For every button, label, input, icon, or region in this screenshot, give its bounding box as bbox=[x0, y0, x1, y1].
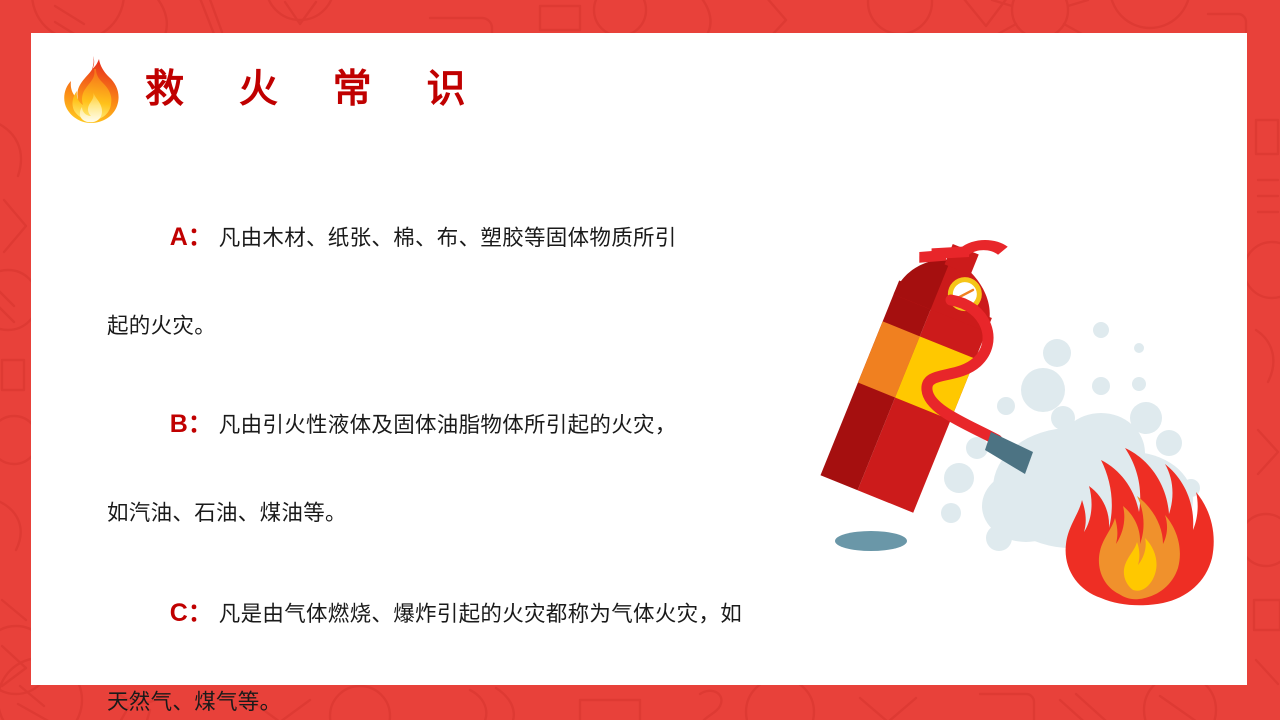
item-text-line-1: 凡由木材、纸张、棉、布、塑胶等固体物质所引 bbox=[219, 226, 677, 250]
item-text-line-2: 起的火灾。 bbox=[107, 304, 807, 348]
item-text-line-1: 凡由引火性液体及固体油脂物体所引起的火灾， bbox=[219, 413, 677, 437]
item-text-line-2: 天然气、煤气等。 bbox=[107, 680, 807, 720]
item-text-line-2: 如汽油、石油、煤油等。 bbox=[107, 491, 807, 535]
flame-icon bbox=[63, 55, 119, 123]
item-text-line-1: 凡是由气体燃烧、爆炸引起的火灾都称为气体火灾，如 bbox=[219, 602, 742, 626]
list-item: C：凡是由气体燃烧、爆炸引起的火灾都称为气体火灾，如 天然气、煤气等。 bbox=[107, 547, 807, 720]
item-label: A： bbox=[170, 223, 213, 251]
page-header: 救 火 常 识 bbox=[63, 55, 488, 123]
fire-class-list: A：凡由木材、纸张、棉、布、塑胶等固体物质所引 起的火灾。 B：凡由引火性液体及… bbox=[107, 171, 807, 720]
fire-extinguisher-illustration bbox=[801, 238, 1241, 638]
item-label: C： bbox=[170, 599, 213, 627]
list-item: B：凡由引火性液体及固体油脂物体所引起的火灾， 如汽油、石油、煤油等。 bbox=[107, 358, 807, 535]
page-title: 救 火 常 识 bbox=[145, 70, 488, 109]
item-label: B： bbox=[170, 410, 213, 438]
content-card: 救 火 常 识 A：凡由木材、纸张、棉、布、塑胶等固体物质所引 起的火灾。 B：… bbox=[31, 33, 1247, 685]
ground-shadow bbox=[835, 531, 907, 551]
fire-extinguisher bbox=[820, 238, 1019, 513]
slide: 救 火 常 识 A：凡由木材、纸张、棉、布、塑胶等固体物质所引 起的火灾。 B：… bbox=[0, 0, 1280, 720]
list-item: A：凡由木材、纸张、棉、布、塑胶等固体物质所引 起的火灾。 bbox=[107, 171, 807, 348]
